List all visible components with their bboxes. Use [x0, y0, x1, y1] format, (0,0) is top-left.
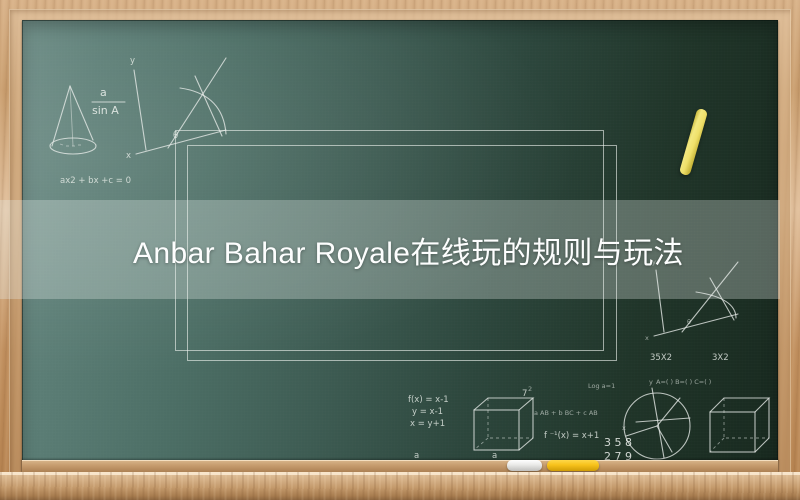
- shelf-grain-texture: [0, 472, 800, 500]
- page-title: Anbar Bahar Royale在线玩的规则与玩法: [133, 228, 733, 272]
- screenshot-root: a sin A y x θ ax2 + bx +c = 0 y x: [0, 0, 800, 500]
- wooden-shelf: [0, 472, 800, 500]
- yellow-chalk-icon: [547, 460, 599, 471]
- white-chalk-icon: [507, 460, 542, 471]
